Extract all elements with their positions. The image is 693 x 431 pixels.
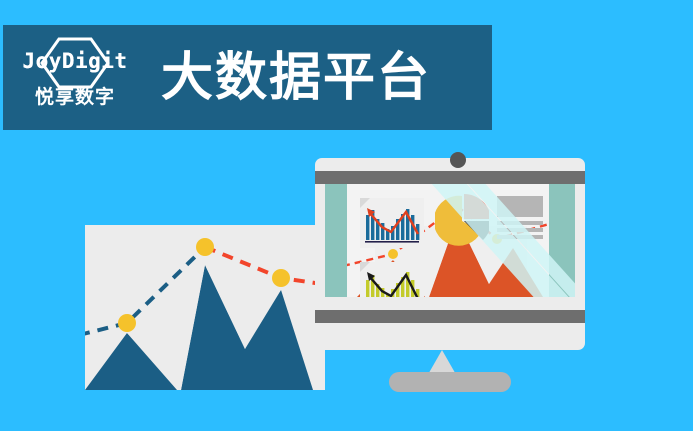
axis-line xyxy=(365,241,419,243)
dashboard-content xyxy=(347,184,549,297)
screen-side-band-left xyxy=(325,184,347,297)
page-title: 大数据平台 xyxy=(161,52,431,104)
text-line xyxy=(497,221,543,225)
logo-latin-text: JoyDigit xyxy=(22,51,127,72)
text-heading-block xyxy=(497,196,543,217)
desktop-monitor xyxy=(315,158,585,350)
monitor-stand-base xyxy=(389,372,511,392)
screen-blue-bar-card xyxy=(360,198,424,248)
mountain-area-chart-panel xyxy=(85,225,325,390)
poster-canvas: JoyDigit 悦享数字 大数据平台 xyxy=(0,0,693,431)
data-node xyxy=(118,314,136,332)
data-node xyxy=(272,269,290,287)
screen-pie-chart xyxy=(435,194,489,248)
left-mountain-chart xyxy=(85,225,325,390)
monitor-screen xyxy=(325,184,575,297)
screen-side-band-right xyxy=(549,184,575,297)
text-line xyxy=(497,235,543,239)
monitor-bezel-top xyxy=(315,171,585,184)
screen-text-block xyxy=(497,196,545,240)
data-node xyxy=(388,249,398,259)
monitor-bezel-bottom xyxy=(315,310,585,323)
logo-chinese-text: 悦享数字 xyxy=(35,88,115,107)
brand-logo: JoyDigit 悦享数字 xyxy=(15,32,135,124)
text-line xyxy=(497,228,543,232)
pie-slice-red xyxy=(464,194,489,219)
header-banner: JoyDigit 悦享数字 大数据平台 xyxy=(3,25,492,130)
screen-green-bar-card xyxy=(360,262,424,297)
data-node xyxy=(196,238,214,256)
monitor-power-indicator[interactable] xyxy=(450,152,466,168)
bar-series xyxy=(366,209,419,240)
